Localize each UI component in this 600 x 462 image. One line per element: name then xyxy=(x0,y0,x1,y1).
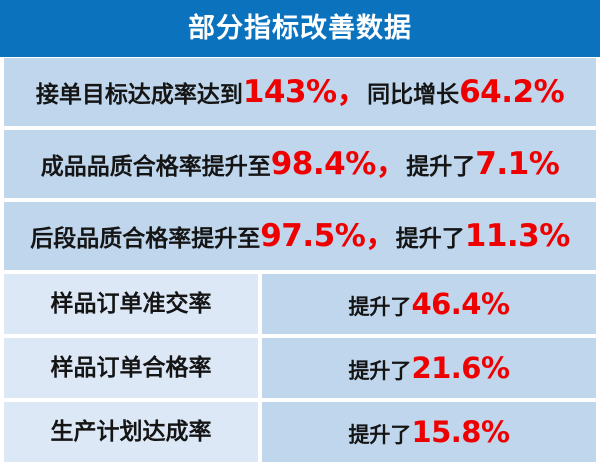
metric-value-cell: 提升了15.8% xyxy=(262,402,596,462)
metric-value-cell: 提升了46.4% xyxy=(262,274,596,334)
metric-value-prefix: 提升了 xyxy=(348,361,411,382)
statement-line: 成品品质合格率提升至98.4%，提升了7.1% xyxy=(41,149,560,180)
table-row: 生产计划达成率 提升了15.8% xyxy=(4,402,596,462)
statement-value-primary: 97.5%， xyxy=(260,221,396,252)
metric-value: 46.4% xyxy=(411,290,509,319)
header-banner: 部分指标改善数据 xyxy=(0,0,600,57)
statement-line: 接单目标达成率达到143%，同比增长64.2% xyxy=(36,77,564,108)
page-title: 部分指标改善数据 xyxy=(188,15,412,42)
statement-value-secondary: 64.2% xyxy=(459,77,564,108)
statement-mid: 提升了 xyxy=(406,156,475,179)
statement-lead: 接单目标达成率达到 xyxy=(36,84,243,107)
metric-label: 样品订单准交率 xyxy=(51,293,212,316)
statement-lead: 成品品质合格率提升至 xyxy=(41,156,271,179)
statement-value-secondary: 11.3% xyxy=(465,221,570,252)
rows-container: 接单目标达成率达到143%，同比增长64.2% 成品品质合格率提升至98.4%，… xyxy=(0,57,600,462)
statement-value-primary: 143%， xyxy=(243,77,367,108)
statement-lead: 后段品质合格率提升至 xyxy=(30,228,260,251)
statement-mid: 同比增长 xyxy=(367,84,459,107)
metric-label-cell: 生产计划达成率 xyxy=(4,402,258,462)
metric-value: 21.6% xyxy=(411,354,509,383)
metric-value-line: 提升了15.8% xyxy=(348,418,509,447)
statement-value-secondary: 7.1% xyxy=(475,149,559,180)
statement-value-primary: 98.4%， xyxy=(271,149,407,180)
metric-value-prefix: 提升了 xyxy=(348,425,411,446)
statement-line: 后段品质合格率提升至97.5%，提升了11.3% xyxy=(30,221,570,252)
table-row: 样品订单合格率 提升了21.6% xyxy=(4,338,596,398)
metric-value-line: 提升了46.4% xyxy=(348,290,509,319)
metric-value-prefix: 提升了 xyxy=(348,297,411,318)
table-row: 样品订单准交率 提升了46.4% xyxy=(4,274,596,334)
metric-label: 样品订单合格率 xyxy=(51,357,212,380)
metric-value-cell: 提升了21.6% xyxy=(262,338,596,398)
table-row: 接单目标达成率达到143%，同比增长64.2% xyxy=(4,58,596,126)
metric-label-cell: 样品订单准交率 xyxy=(4,274,258,334)
table-row: 成品品质合格率提升至98.4%，提升了7.1% xyxy=(4,130,596,198)
table-row: 后段品质合格率提升至97.5%，提升了11.3% xyxy=(4,202,596,270)
metric-value: 15.8% xyxy=(411,418,509,447)
statement-mid: 提升了 xyxy=(396,228,465,251)
metric-label: 生产计划达成率 xyxy=(51,421,212,444)
metric-value-line: 提升了21.6% xyxy=(348,354,509,383)
metric-label-cell: 样品订单合格率 xyxy=(4,338,258,398)
metrics-board: 部分指标改善数据 接单目标达成率达到143%，同比增长64.2% 成品品质合格率… xyxy=(0,0,600,452)
